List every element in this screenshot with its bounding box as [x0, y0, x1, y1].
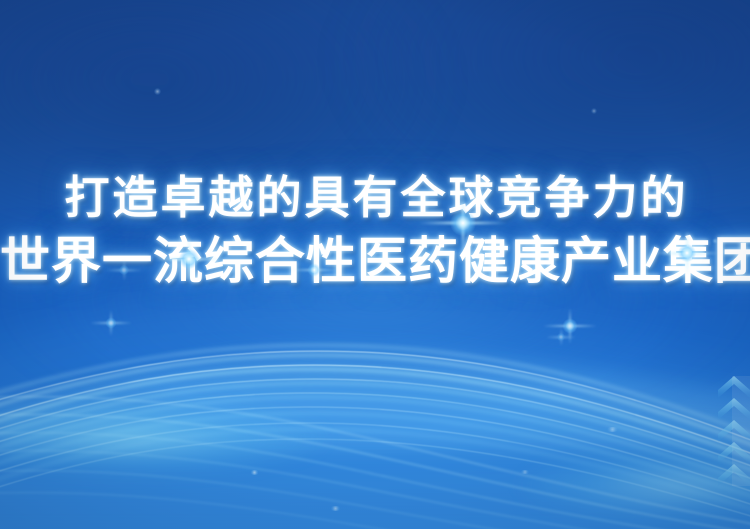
wave-crest-glow-right — [520, 451, 750, 521]
headline-line-1: 打造卓越的具有全球竞争力的 — [0, 175, 750, 220]
headline-block: 打造卓越的具有全球竞争力的 世界一流综合性医药健康产业集团 — [0, 175, 750, 286]
wave-crest-glow-left — [0, 398, 330, 478]
chevron-up-stack-icon — [718, 374, 750, 486]
hero-banner: 打造卓越的具有全球竞争力的 世界一流综合性医药健康产业集团 — [0, 0, 750, 529]
headline-line-2: 世界一流综合性医药健康产业集团 — [0, 236, 750, 286]
